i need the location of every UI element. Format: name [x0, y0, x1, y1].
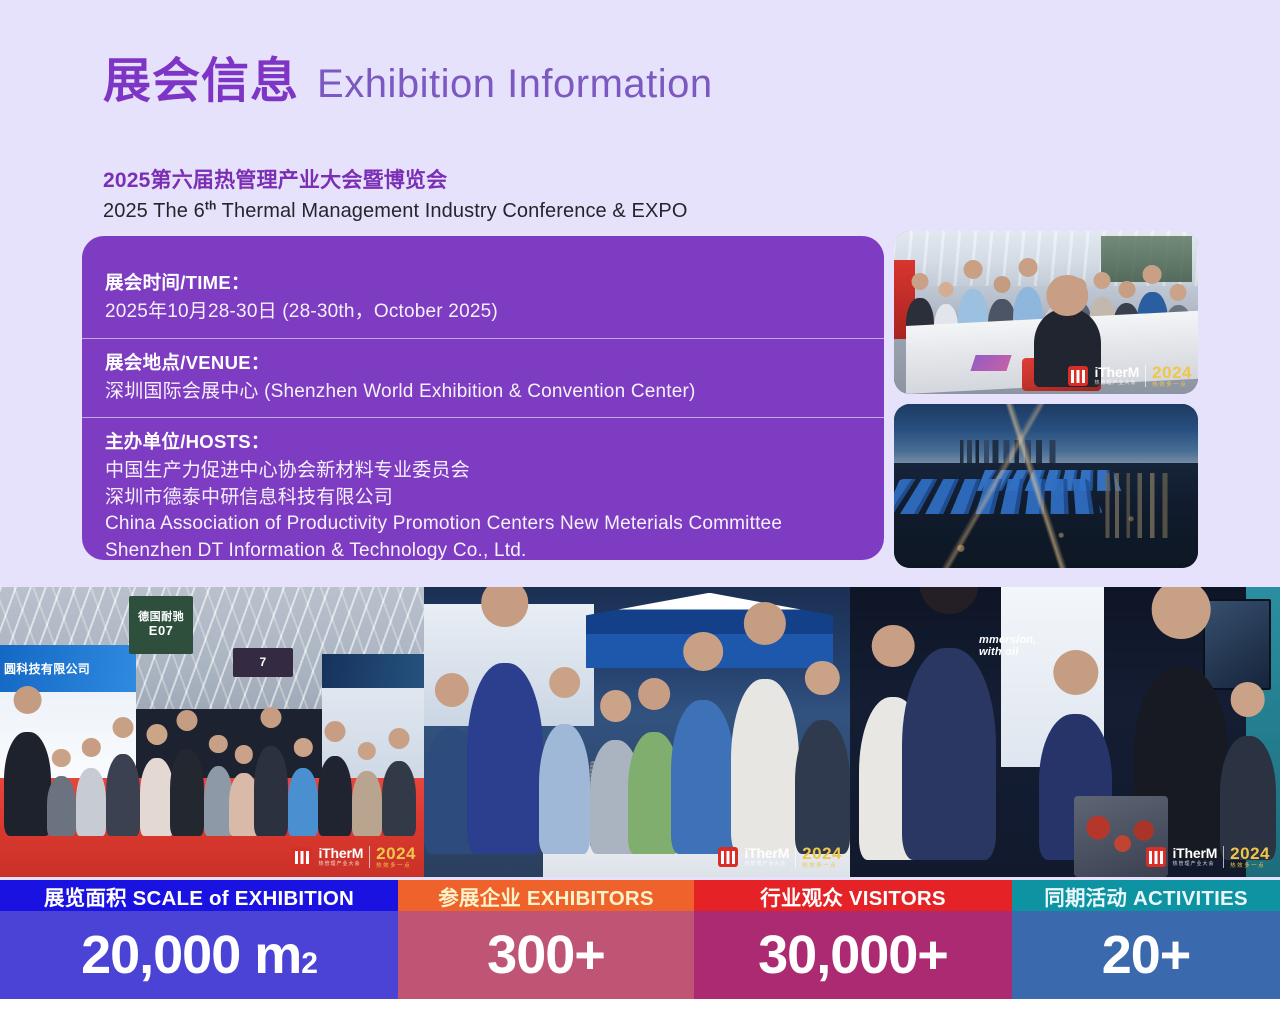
sign-company-cn: 德国耐驰 — [129, 611, 193, 624]
page-title-cn: 展会信息 — [103, 58, 299, 106]
info-value-host-2: 深圳市德泰中研信息科技有限公司 — [105, 485, 858, 512]
stat-scale-of-exhibition: 展览面积 SCALE of EXHIBITION 20,000 m2 — [0, 880, 398, 999]
stat-value-exhibitors: 300+ — [487, 928, 605, 982]
photo-strip: 圆科技有限公司 德国耐驰 E07 7 — [0, 587, 1280, 877]
exhibition-aisle-photo: 圆科技有限公司 德国耐驰 E07 7 — [0, 587, 424, 877]
stat-value-scale-number: 20,000 m — [81, 928, 301, 982]
venue-aerial-photo — [894, 404, 1198, 568]
stat-visitors: 行业观众 VISITORS 30,000+ — [694, 880, 1012, 999]
product-discussion-photo: mmersion, with oil iTherM 热管理产业大会 2024 热… — [850, 587, 1280, 877]
event-subtitle-cn: 2025第六届热管理产业大会暨博览会 — [103, 167, 688, 195]
brochures — [970, 355, 1012, 371]
stat-body-visitors: 30,000+ — [694, 911, 1012, 999]
stat-body-activities: 20+ — [1012, 911, 1280, 999]
stat-label-exhibitors: 参展企业 EXHIBITORS — [398, 880, 694, 911]
stat-value-scale: 20,000 m2 — [81, 928, 317, 982]
registration-desk-photo: iTherM 热管理产业大会 2024 热效多一点 — [894, 231, 1198, 394]
info-label-venue: 展会地点/VENUE： — [105, 347, 858, 378]
info-value-host-1: 中国生产力促进中心协会新材料专业委员会 — [105, 458, 858, 485]
crowd-group — [0, 715, 424, 837]
bottom-margin — [0, 999, 1280, 1022]
stat-label-visitors: 行业观众 VISITORS — [694, 880, 1012, 911]
info-label-hosts: 主办单位/HOSTS： — [105, 426, 858, 457]
event-subtitle: 2025第六届热管理产业大会暨博览会 2025 The 6th Thermal … — [103, 167, 688, 226]
stat-label-scale: 展览面积 SCALE of EXHIBITION — [0, 880, 398, 911]
stat-body-exhibitors: 300+ — [398, 911, 694, 999]
person-signing — [1034, 309, 1101, 387]
info-row-venue: 展会地点/VENUE： 深圳国际会展中心 (Shenzhen World Exh… — [82, 338, 884, 418]
page-title: 展会信息 Exhibition Information — [103, 58, 713, 106]
stat-value-visitors: 30,000+ — [758, 928, 948, 982]
stat-activities: 同期活动 ACTIVITIES 20+ — [1012, 880, 1280, 999]
sign-booth-code: E07 — [129, 624, 193, 639]
road-lights — [894, 404, 1198, 568]
info-value-host-4: Shenzhen DT Information & Technology Co.… — [105, 538, 858, 565]
exhibition-info-panel: 展会时间/TIME： 2025年10月28-30日 (28-30th，Octob… — [82, 236, 884, 560]
booth-sign-netzsch: 德国耐驰 E07 — [129, 596, 193, 654]
info-value-venue: 深圳国际会展中心 (Shenzhen World Exhibition & Co… — [105, 378, 858, 406]
subtitle-en-post: Thermal Management Industry Conference &… — [216, 200, 687, 222]
statistics-bar: 展览面积 SCALE of EXHIBITION 20,000 m2 参展企业 … — [0, 880, 1280, 999]
subtitle-en-pre: 2025 The 6 — [103, 200, 205, 222]
crowd-group — [424, 651, 850, 854]
booth-left-header: 圆科技有限公司 — [0, 645, 136, 692]
stat-value-activities: 20+ — [1102, 928, 1191, 982]
demo-device — [1074, 796, 1169, 877]
page-title-en: Exhibition Information — [317, 64, 713, 104]
info-label-time: 展会时间/TIME： — [105, 267, 858, 298]
stat-value-scale-unit-sup: 2 — [301, 949, 317, 979]
info-row-time: 展会时间/TIME： 2025年10月28-30日 (28-30th，Octob… — [82, 258, 884, 338]
stat-body-scale: 20,000 m2 — [0, 911, 398, 999]
booth-demo-photo: iTherM 热管理产业大会 2024 热效多一点 — [424, 587, 850, 877]
subtitle-en-ordinal: th — [205, 199, 217, 213]
info-row-hosts: 主办单位/HOSTS： 中国生产力促进中心协会新材料专业委员会 深圳市德泰中研信… — [82, 417, 884, 576]
crowd-group — [850, 639, 1280, 859]
info-value-host-3: China Association of Productivity Promot… — [105, 511, 858, 538]
event-subtitle-en: 2025 The 6th Thermal Management Industry… — [103, 197, 688, 226]
info-value-time: 2025年10月28-30日 (28-30th，October 2025) — [105, 298, 858, 326]
stat-exhibitors: 参展企业 EXHIBITORS 300+ — [398, 880, 694, 999]
hall-number-sign: 7 — [233, 648, 292, 677]
booth-right-header — [322, 654, 424, 688]
stat-label-activities: 同期活动 ACTIVITIES — [1012, 880, 1280, 911]
